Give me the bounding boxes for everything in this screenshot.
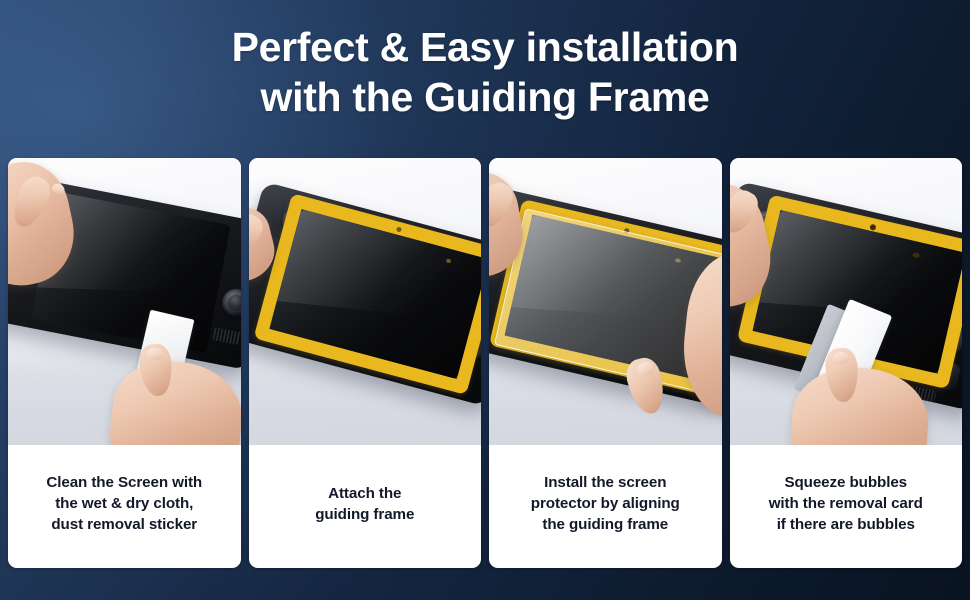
right-thumbstick [220,286,241,319]
caption-text-4: Squeeze bubbles with the removal card if… [769,472,923,535]
caption-line-3: dust removal sticker [51,516,197,533]
step-caption-4: Squeeze bubbles with the removal card if… [730,445,963,568]
caption-line-1: Install the screen [544,474,666,491]
guiding-frame [253,193,481,395]
scene-clean-screen [8,158,241,445]
scene-attach-frame [249,158,482,445]
step-caption-2: Attach the guiding frame [249,445,482,568]
speaker-grille-right [213,327,241,345]
page-title-line-2: with the Guiding Frame [0,72,970,122]
caption-line-3: the guiding frame [542,516,668,533]
caption-line-1: Attach the [328,485,401,502]
step-photo-1 [8,158,241,445]
thumbnail [833,352,849,364]
step-photo-3 [489,158,722,445]
step-caption-1: Clean the Screen with the wet & dry clot… [8,445,241,568]
device-screen [269,209,481,379]
step-card-4: Squeeze bubbles with the removal card if… [730,158,963,568]
hand-right [107,356,241,445]
page-title-line-1: Perfect & Easy installation [0,22,970,72]
page-title: Perfect & Easy installation with the Gui… [0,22,970,122]
handheld-device [249,182,482,407]
caption-line-1: Squeeze bubbles [784,474,907,491]
step-photo-4 [730,158,963,445]
caption-line-1: Clean the Screen with [46,474,202,491]
scene-squeeze-bubbles [730,158,963,445]
step-card-1: Clean the Screen with the wet & dry clot… [8,158,241,568]
caption-text-1: Clean the Screen with the wet & dry clot… [46,472,202,535]
steps-row: Clean the Screen with the wet & dry clot… [8,158,962,568]
thumbnail [147,348,163,360]
caption-line-2: guiding frame [315,506,414,523]
caption-line-2: protector by aligning [531,495,680,512]
scene-install-protector [489,158,722,445]
caption-line-2: with the removal card [769,495,923,512]
caption-text-2: Attach the guiding frame [315,483,414,525]
infographic-page: Perfect & Easy installation with the Gui… [0,0,970,600]
step-photo-2 [249,158,482,445]
step-caption-3: Install the screen protector by aligning… [489,445,722,568]
caption-line-3: if there are bubbles [777,516,915,533]
step-card-2: Attach the guiding frame [249,158,482,568]
step-card-3: Install the screen protector by aligning… [489,158,722,568]
caption-text-3: Install the screen protector by aligning… [531,472,680,535]
caption-line-2: the wet & dry cloth, [55,495,193,512]
